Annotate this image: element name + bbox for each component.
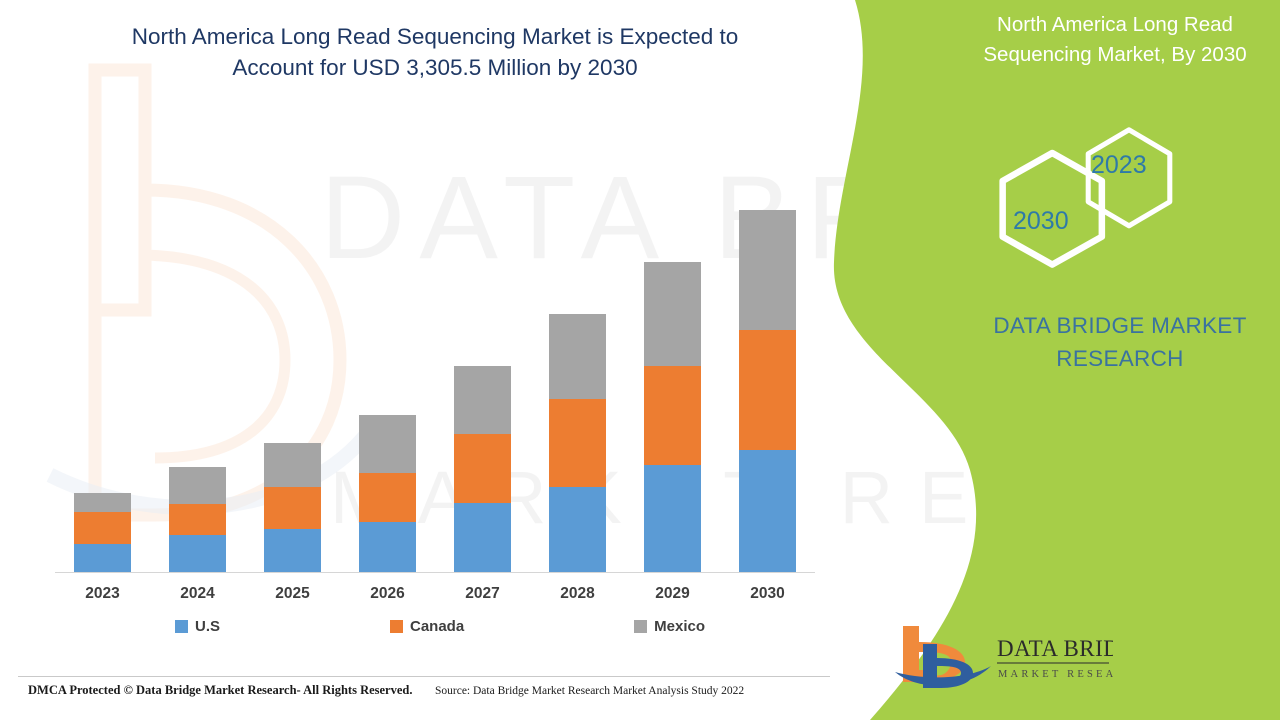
panel-heading: North America Long Read Sequencing Marke… (955, 10, 1275, 69)
brand-panel-content: North America Long Read Sequencing Marke… (0, 0, 1280, 720)
logo-wordmark: DATA BRIDGE (997, 636, 1113, 661)
hexagon-pair: 2023 2030 (975, 125, 1195, 295)
hexagon-2023-label: 2023 (1091, 151, 1147, 180)
hexagon-2030-label: 2030 (1013, 207, 1069, 236)
brand-name: DATA BRIDGE MARKET RESEARCH (960, 310, 1280, 375)
logo-tagline: MARKET RESEARCH (998, 669, 1113, 680)
infographic-page: DATA BRIDGE MARKET RESEARCH North Americ… (0, 0, 1280, 720)
company-logo: DATA BRIDGE MARKET RESEARCH (893, 622, 1113, 694)
